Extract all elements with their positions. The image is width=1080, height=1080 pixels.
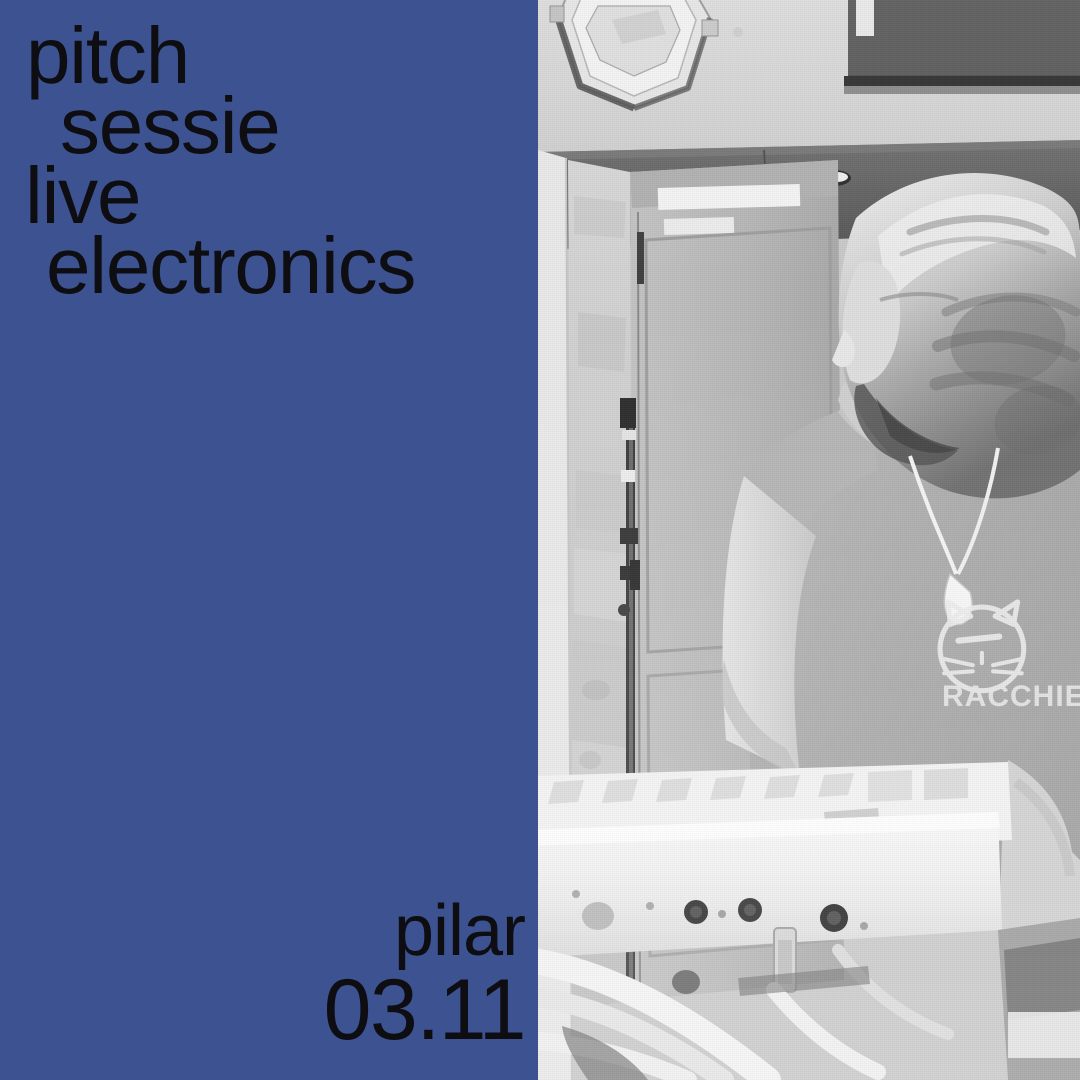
svg-text:RACCHIE: RACCHIE bbox=[942, 680, 1080, 713]
event-date: 03.11 bbox=[324, 967, 525, 1053]
left-blue-panel: pitch sessie live electronics pilar 03.1… bbox=[0, 0, 538, 1080]
footer-info: pilar 03.11 bbox=[324, 895, 525, 1053]
photo-illustration: RACCHIE bbox=[538, 0, 1080, 1080]
venue-name: pilar bbox=[324, 895, 525, 967]
wall-panel-speaker bbox=[844, 0, 1080, 94]
headline-line-4: electronics bbox=[0, 231, 538, 301]
photo-panel: RACCHIE bbox=[538, 0, 1080, 1080]
poster-canvas: RACCHIE bbox=[0, 0, 1080, 1080]
headline: pitch sessie live electronics bbox=[0, 21, 538, 301]
